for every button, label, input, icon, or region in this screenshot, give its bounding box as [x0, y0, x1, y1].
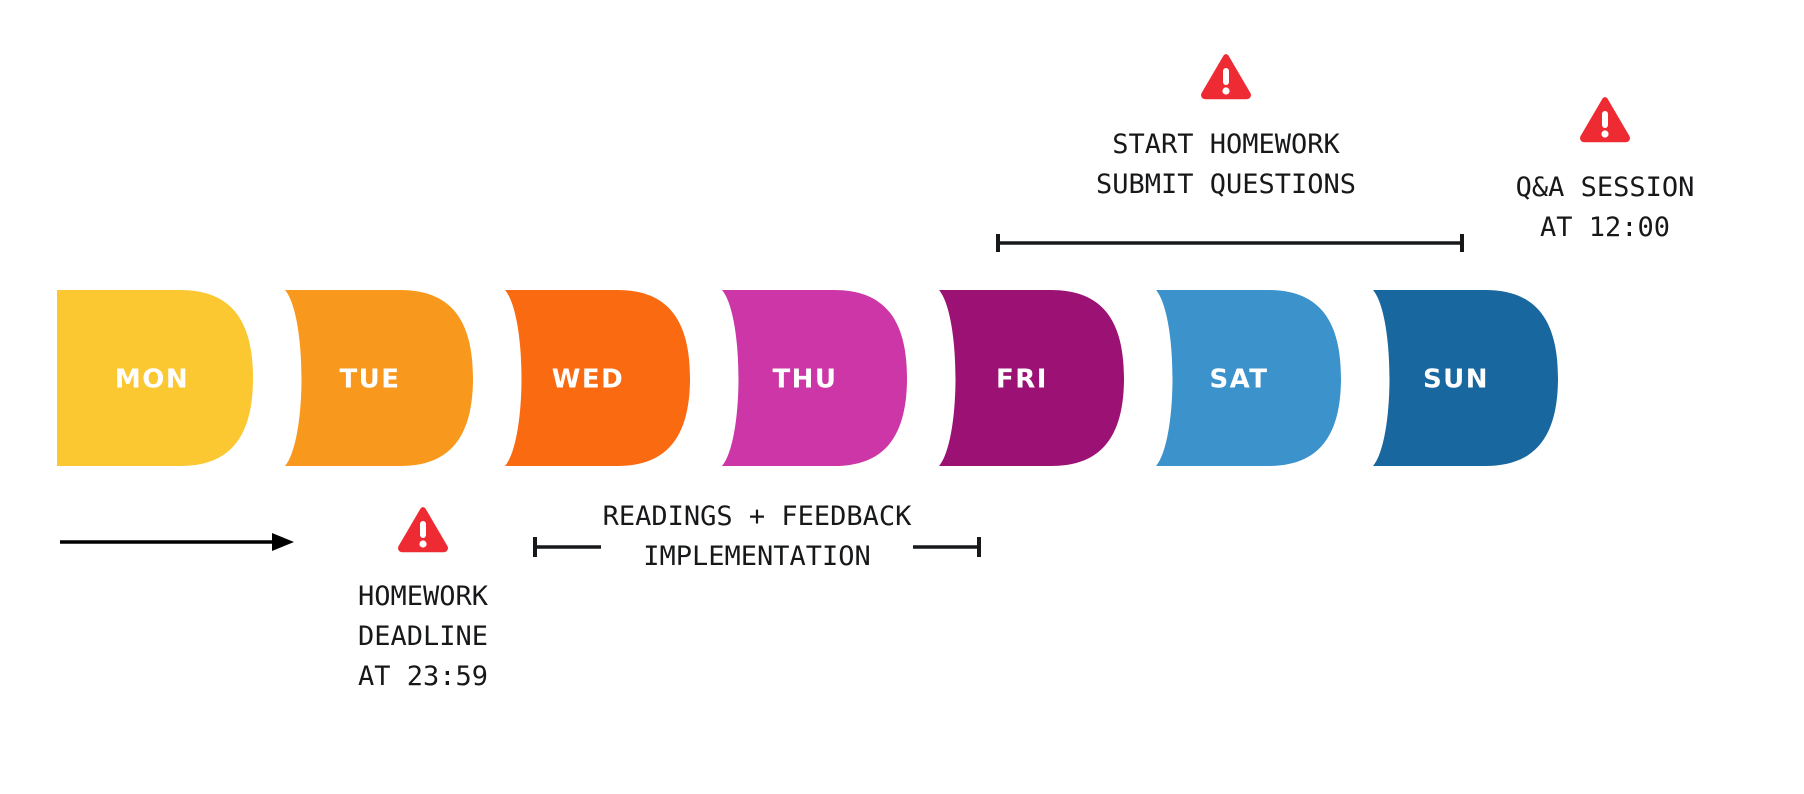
day-label-sun: SUN	[1423, 365, 1489, 395]
diagram-canvas: MON TUE WED THU FRI SAT SUN	[0, 0, 1804, 794]
day-segment-mon[interactable]: MON	[57, 290, 253, 466]
warning-icon	[1199, 52, 1253, 102]
arrow-right-icon	[58, 524, 298, 560]
annotation-line: DEADLINE	[218, 617, 628, 657]
day-label-sat: SAT	[1209, 365, 1268, 395]
annotation-line: HOMEWORK	[218, 577, 628, 617]
annotation-line: AT 23:59	[218, 657, 628, 697]
annotation-line: Q&A SESSION	[1400, 168, 1804, 208]
annotation-start-homework: START HOMEWORK SUBMIT QUESTIONS	[1021, 125, 1431, 205]
range-bracket-start-homework	[996, 232, 1464, 254]
day-segment-sun[interactable]: SUN	[1373, 290, 1558, 466]
annotation-line: IMPLEMENTATION	[551, 537, 963, 577]
warning-icon	[396, 505, 450, 555]
annotation-homework-deadline: HOMEWORK DEADLINE AT 23:59	[218, 577, 628, 697]
day-segment-wed[interactable]: WED	[505, 290, 690, 466]
day-label-fri: FRI	[996, 365, 1048, 395]
annotation-line: SUBMIT QUESTIONS	[1021, 165, 1431, 205]
annotation-line: START HOMEWORK	[1021, 125, 1431, 165]
day-segment-fri[interactable]: FRI	[939, 290, 1124, 466]
annotation-line: READINGS + FEEDBACK	[551, 497, 963, 537]
day-segment-tue[interactable]: TUE	[285, 290, 473, 466]
annotation-line: AT 12:00	[1400, 208, 1804, 248]
annotation-readings-feedback: READINGS + FEEDBACK IMPLEMENTATION	[551, 497, 963, 577]
warning-icon	[1578, 95, 1632, 145]
day-segment-thu[interactable]: THU	[722, 290, 907, 466]
day-segment-sat[interactable]: SAT	[1156, 290, 1341, 466]
day-label-mon: MON	[115, 365, 189, 395]
day-label-thu: THU	[772, 365, 837, 395]
day-label-wed: WED	[552, 365, 625, 395]
day-label-tue: TUE	[339, 365, 400, 395]
annotation-qa-session: Q&A SESSION AT 12:00	[1400, 168, 1804, 248]
